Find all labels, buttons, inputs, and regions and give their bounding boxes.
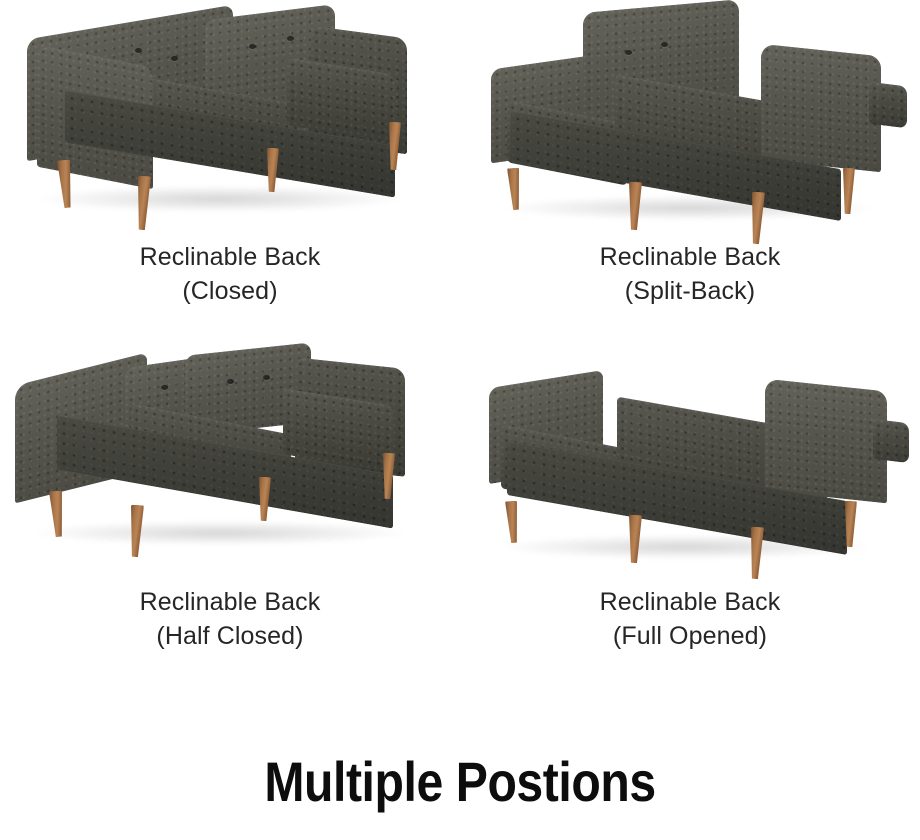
- caption-split-back: Reclinable Back (Split-Back): [600, 240, 781, 308]
- caption-line-1: Reclinable Back: [600, 243, 781, 271]
- floor-shadow: [35, 521, 405, 545]
- product-feature-image: Reclinable Back (Closed): [0, 0, 920, 840]
- caption-line-1: Reclinable Back: [140, 243, 321, 271]
- end-panel-right-flap: [873, 419, 909, 463]
- arm-right-flap: [869, 82, 907, 129]
- arm-right: [761, 44, 881, 173]
- caption-line-2: (Closed): [140, 274, 321, 308]
- floor-shadow: [39, 186, 399, 212]
- caption-line-1: Reclinable Back: [600, 588, 781, 616]
- position-grid: Reclinable Back (Closed): [0, 0, 920, 690]
- caption-line-1: Reclinable Back: [140, 588, 321, 616]
- tuft-button: [625, 50, 632, 55]
- tuft-button: [161, 385, 168, 390]
- panel-split-back: Reclinable Back (Split-Back): [460, 0, 920, 345]
- tuft-button: [249, 44, 256, 49]
- tuft-button: [263, 375, 270, 380]
- caption-full-opened: Reclinable Back (Full Opened): [600, 585, 781, 653]
- tuft-button: [135, 48, 142, 53]
- tuft-button: [171, 56, 178, 61]
- caption-line-2: (Half Closed): [140, 619, 321, 653]
- panel-full-opened: Reclinable Back (Full Opened): [460, 345, 920, 690]
- tuft-button: [287, 36, 294, 41]
- caption-half-closed: Reclinable Back (Half Closed): [140, 585, 321, 653]
- caption-closed: Reclinable Back (Closed): [140, 240, 321, 308]
- tuft-button: [227, 379, 234, 384]
- leg-back-left: [505, 501, 520, 544]
- caption-line-2: (Full Opened): [600, 619, 781, 653]
- sofa-illustration-closed: [5, 0, 455, 240]
- sofa-illustration-split-back: [465, 0, 915, 240]
- end-panel-right: [765, 379, 887, 504]
- page-headline: Multiple Postions: [64, 752, 855, 812]
- sofa-illustration-half-closed: [5, 345, 455, 585]
- panel-half-closed: Reclinable Back (Half Closed): [0, 345, 460, 690]
- tuft-button: [661, 42, 668, 47]
- caption-line-2: (Split-Back): [600, 274, 781, 308]
- sofa-illustration-full-opened: [465, 345, 915, 585]
- panel-closed: Reclinable Back (Closed): [0, 0, 460, 345]
